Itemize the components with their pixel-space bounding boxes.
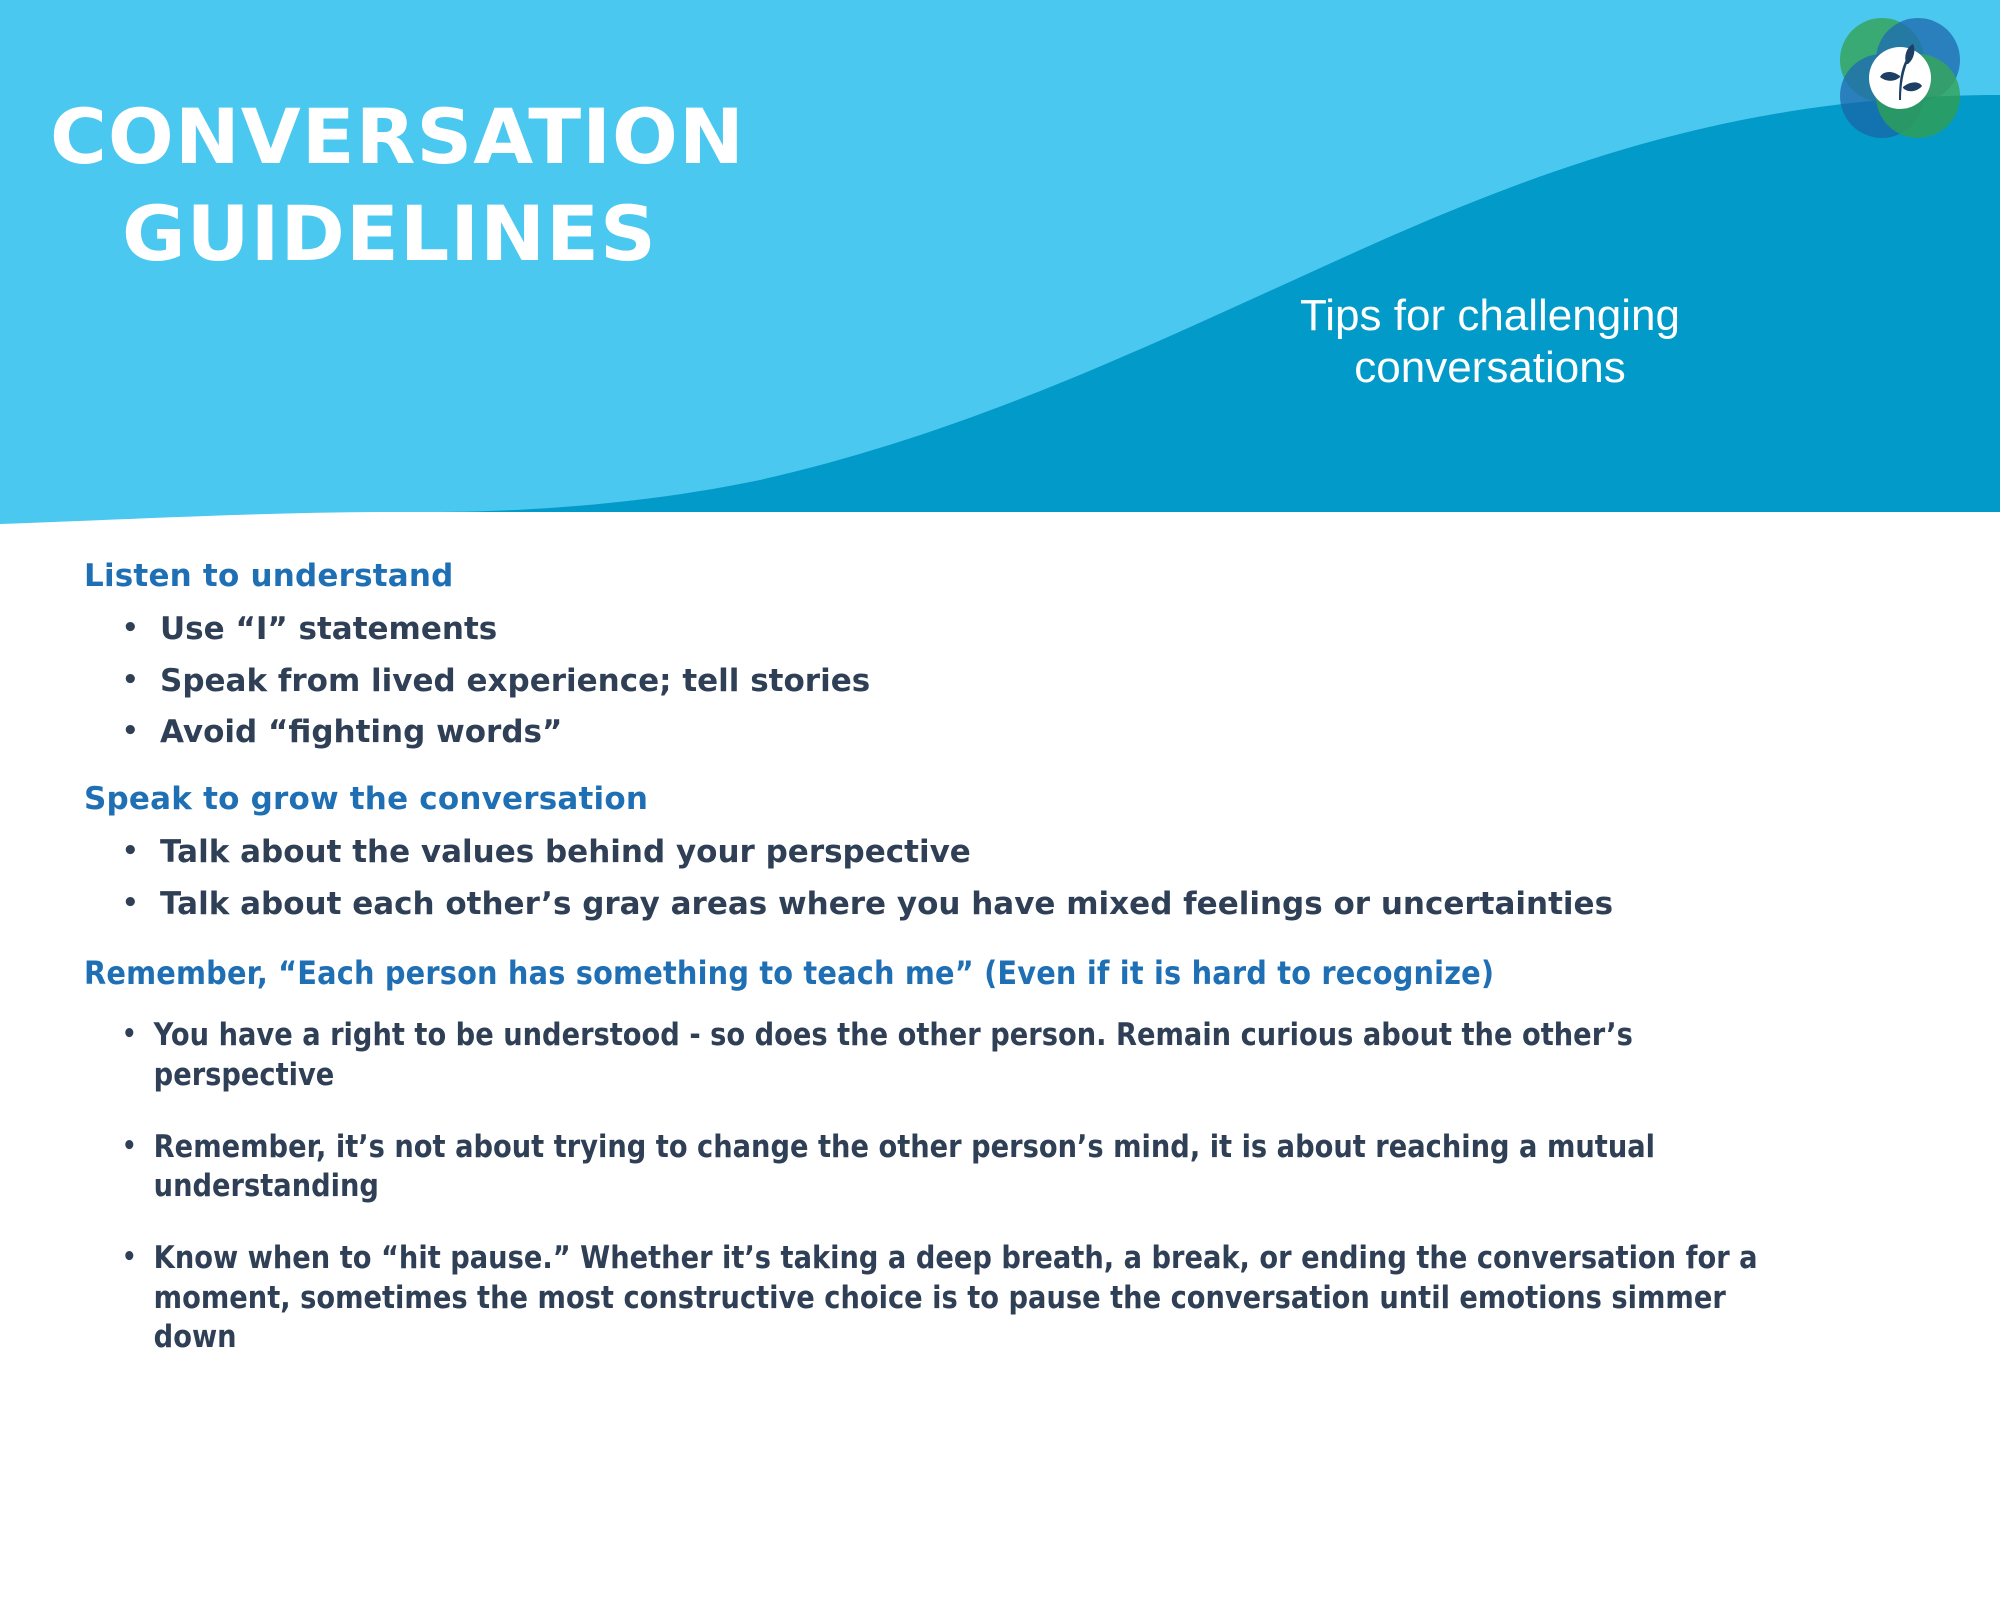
slide-header-banner: CONVERSATION GUIDELINES Tips for challen…	[0, 0, 2000, 530]
page-title: CONVERSATION GUIDELINES	[50, 88, 950, 283]
section-heading: Remember, “Each person has something to …	[84, 954, 1808, 992]
content-section: Remember, “Each person has something to …	[0, 954, 2000, 1358]
content-section: Speak to grow the conversation Talk abou…	[0, 781, 2000, 924]
list-item: Talk about each other’s gray areas where…	[122, 885, 2000, 925]
list-item: Remember, it’s not about trying to chang…	[122, 1128, 1775, 1207]
list-item: Know when to “hit pause.” Whether it’s t…	[122, 1239, 1775, 1358]
list-item: Use “I” statements	[122, 610, 2000, 650]
list-item: Talk about the values behind your perspe…	[122, 833, 2000, 873]
section-heading: Speak to grow the conversation	[84, 781, 2000, 817]
section-bullet-list: Talk about the values behind your perspe…	[0, 833, 2000, 924]
list-item: You have a right to be understood - so d…	[122, 1016, 1775, 1095]
organization-logo	[1830, 8, 1970, 148]
slide-body-content: Listen to understand Use “I” statements …	[0, 530, 2000, 1600]
list-item: Speak from lived experience; tell storie…	[122, 662, 2000, 702]
sprout-logo-icon	[1830, 8, 1970, 148]
title-line-1: CONVERSATION	[50, 88, 968, 185]
list-item: Avoid “fighting words”	[122, 713, 2000, 753]
content-section: Listen to understand Use “I” statements …	[0, 558, 2000, 753]
section-bullet-list: Use “I” statements Speak from lived expe…	[0, 610, 2000, 753]
section-bullet-list: You have a right to be understood - so d…	[0, 1016, 2000, 1358]
title-line-2: GUIDELINES	[122, 185, 967, 282]
section-heading: Listen to understand	[84, 558, 2000, 594]
header-subtitle: Tips for challenging conversations	[1200, 290, 1780, 394]
